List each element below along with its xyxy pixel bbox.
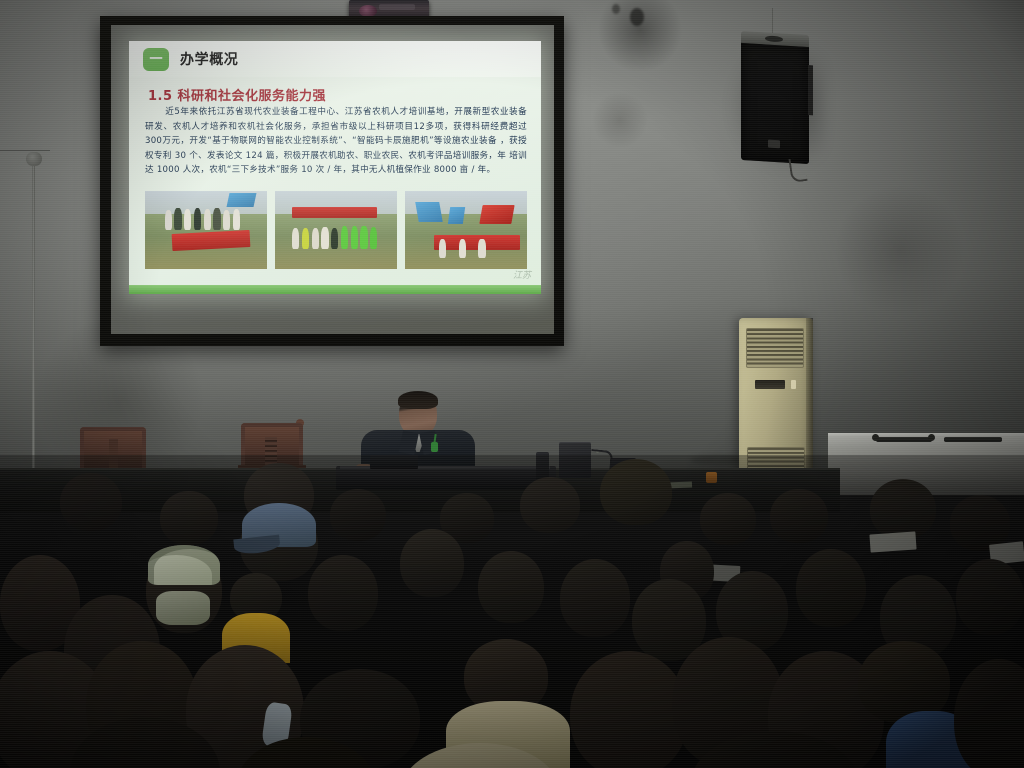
person-head bbox=[570, 651, 688, 768]
audience-person bbox=[690, 731, 860, 768]
slide-subtitle: 1.5 科研和社会化服务能力强 bbox=[148, 85, 326, 104]
photo-person bbox=[174, 208, 181, 230]
slide-photo bbox=[145, 191, 267, 269]
audience-person bbox=[870, 479, 936, 539]
person-head bbox=[560, 559, 630, 637]
person-head bbox=[478, 551, 544, 623]
audience-person bbox=[308, 555, 378, 631]
photo-person bbox=[165, 210, 172, 230]
photo-person bbox=[341, 226, 348, 249]
audience-paper bbox=[869, 531, 916, 552]
audience-person-blue-jacket bbox=[842, 641, 972, 768]
person-head bbox=[520, 477, 580, 533]
photo-person bbox=[292, 228, 299, 248]
microphone-icon bbox=[431, 442, 438, 452]
person-head bbox=[870, 479, 936, 539]
photo-flag bbox=[226, 193, 256, 207]
photo-flag bbox=[415, 202, 443, 222]
slide-body-line: 研发、农机人才培养和农机社会化服务，承担省市级以上科研项目12多项，获得科研经费… bbox=[145, 122, 527, 132]
audience-person bbox=[770, 489, 828, 543]
slide-footer-bar bbox=[129, 285, 541, 294]
person-head bbox=[700, 493, 756, 545]
side-table-knob[interactable] bbox=[928, 434, 935, 441]
projection-screen-surface[interactable]: 一 办学概况 1.5 科研和社会化服务能力强 近5年来依托江苏省现代农业装备工程… bbox=[111, 25, 554, 334]
audience-person bbox=[956, 559, 1024, 635]
photo-person bbox=[360, 226, 367, 249]
photo-person bbox=[204, 209, 211, 230]
wall-speaker bbox=[741, 31, 809, 164]
slide-body-text: 近5年来依托江苏省现代农业装备工程中心、江苏省农机人才培训基地，开展新型农业装备… bbox=[145, 105, 527, 178]
slide-watermark: 江苏 bbox=[513, 268, 531, 281]
photo-person bbox=[370, 227, 377, 249]
photo-person bbox=[351, 226, 358, 249]
audience-person bbox=[400, 529, 464, 597]
person-head bbox=[236, 737, 376, 768]
photo-red-banner bbox=[171, 230, 250, 251]
person-head bbox=[160, 491, 218, 545]
person-head bbox=[954, 659, 1024, 768]
wall-mark bbox=[612, 4, 620, 14]
audience-person-camo-cap bbox=[240, 507, 318, 581]
audience-person bbox=[700, 493, 756, 545]
wall-mark bbox=[630, 8, 644, 26]
side-table-handle[interactable] bbox=[876, 437, 932, 442]
audience-person bbox=[400, 743, 560, 768]
speaker-side-panel bbox=[808, 65, 813, 115]
lecture-hall-scene: 一 办学概况 1.5 科研和社会化服务能力强 近5年来依托江苏省现代农业装备工程… bbox=[0, 0, 1024, 768]
speaker-logo-icon bbox=[768, 140, 780, 149]
audience-person bbox=[236, 737, 376, 768]
photo-person bbox=[439, 239, 446, 258]
side-table-handle[interactable] bbox=[944, 437, 1002, 442]
speaker-grille bbox=[741, 43, 809, 164]
photo-person bbox=[194, 208, 201, 230]
projection-screen-frame: 一 办学概况 1.5 科研和社会化服务能力强 近5年来依托江苏省现代农业装备工程… bbox=[100, 16, 564, 346]
person-head bbox=[308, 555, 378, 631]
photo-red-banner bbox=[434, 235, 519, 251]
photo-red-banner bbox=[292, 207, 377, 219]
ac-indicator-icon bbox=[791, 380, 796, 389]
wall-seam bbox=[0, 150, 50, 151]
projector-body-highlight bbox=[379, 4, 415, 10]
audience-person bbox=[70, 717, 220, 768]
wall-conduit-pipe bbox=[32, 160, 35, 480]
audience-person bbox=[560, 559, 630, 637]
photo-person bbox=[459, 239, 466, 258]
photo-person bbox=[223, 210, 230, 230]
photo-flag bbox=[448, 207, 465, 224]
audience-person bbox=[796, 549, 866, 627]
slide-body-line: 300万元，开发“基于物联网的智能农业控制系统”、“智能码卡辰施肥机”等设施农业… bbox=[145, 136, 497, 146]
side-table-knob[interactable] bbox=[872, 434, 879, 441]
person-head bbox=[796, 549, 866, 627]
wall-fixture-icon bbox=[26, 152, 42, 166]
audience-person bbox=[160, 491, 218, 545]
camo-bandana-icon bbox=[156, 591, 210, 625]
slide-section-badge: 一 bbox=[143, 48, 169, 71]
ac-display-panel[interactable] bbox=[755, 380, 785, 389]
audience-person bbox=[60, 473, 122, 531]
photo-person bbox=[302, 228, 309, 249]
photo-person bbox=[233, 209, 240, 230]
person-shoulder bbox=[400, 743, 560, 768]
person-head bbox=[400, 529, 464, 597]
slide-header-title: 办学概况 bbox=[180, 49, 238, 69]
photo-person bbox=[312, 228, 319, 248]
seated-audience bbox=[0, 455, 1024, 768]
camo-cap-icon bbox=[148, 545, 220, 585]
photo-person bbox=[321, 227, 328, 249]
photo-person bbox=[478, 239, 485, 258]
person-head bbox=[956, 559, 1024, 635]
slide-photo bbox=[405, 191, 527, 269]
slide-body-line: 近5年来依托江苏省现代农业装备工程中心、江苏省农机人才培训基地，开展新型农业装备 bbox=[165, 107, 527, 117]
audience-person bbox=[600, 459, 672, 525]
presentation-slide[interactable]: 一 办学概况 1.5 科研和社会化服务能力强 近5年来依托江苏省现代农业装备工程… bbox=[129, 41, 541, 294]
slide-photo-row bbox=[145, 191, 527, 269]
person-head bbox=[770, 489, 828, 543]
ac-top-vent bbox=[746, 328, 804, 368]
speaker-port-icon bbox=[765, 35, 783, 42]
photo-person bbox=[213, 208, 220, 230]
person-head bbox=[70, 717, 220, 768]
audience-person bbox=[478, 551, 544, 623]
slide-header: 一 办学概况 bbox=[129, 41, 541, 77]
person-head bbox=[60, 473, 122, 531]
person-head bbox=[690, 731, 860, 768]
photo-flag bbox=[479, 205, 514, 224]
person-head bbox=[330, 489, 386, 541]
photo-person bbox=[184, 209, 191, 230]
presenter-hair bbox=[398, 391, 438, 409]
person-head bbox=[600, 459, 672, 525]
slide-photo bbox=[275, 191, 397, 269]
photo-person bbox=[331, 228, 338, 249]
audience-person bbox=[570, 651, 688, 768]
audience-person bbox=[330, 489, 386, 541]
audience-person bbox=[520, 477, 580, 533]
audience-person bbox=[954, 659, 1024, 768]
